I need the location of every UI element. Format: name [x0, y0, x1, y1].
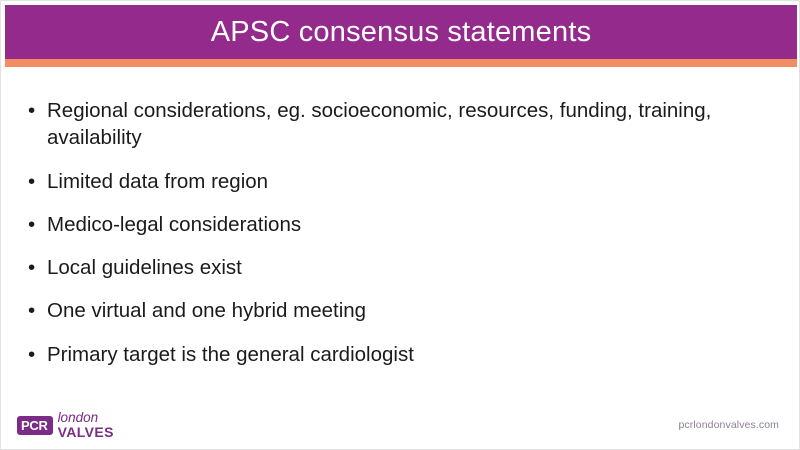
list-item: • One virtual and one hybrid meeting — [25, 297, 765, 324]
slide-header-band: APSC consensus statements — [5, 5, 797, 59]
list-item: • Primary target is the general cardiolo… — [25, 341, 765, 368]
bullet-marker-icon: • — [28, 341, 35, 368]
bullet-marker-icon: • — [28, 297, 35, 324]
list-item: • Local guidelines exist — [25, 254, 765, 281]
footer-website-url: pcrlondonvalves.com — [678, 419, 779, 431]
bullet-marker-icon: • — [28, 97, 35, 124]
slide: APSC consensus statements • Regional con… — [0, 0, 800, 450]
list-item: • Medico-legal considerations — [25, 211, 765, 238]
list-item-text: Regional considerations, eg. socioeconom… — [47, 99, 711, 149]
logo-wordmark: london VALVES — [58, 411, 114, 440]
list-item-text: Local guidelines exist — [47, 256, 242, 279]
bullet-marker-icon: • — [28, 254, 35, 281]
page-title: APSC consensus statements — [211, 18, 592, 47]
logo-valves-text: VALVES — [58, 425, 114, 440]
list-item: • Regional considerations, eg. socioecon… — [25, 97, 765, 152]
list-item-text: Primary target is the general cardiologi… — [47, 343, 414, 366]
list-item: • Limited data from region — [25, 168, 765, 195]
list-item-text: Medico-legal considerations — [47, 213, 301, 236]
header-accent-bar — [5, 59, 797, 67]
bullet-marker-icon: • — [28, 211, 35, 238]
list-item-text: Limited data from region — [47, 170, 268, 193]
list-item-text: One virtual and one hybrid meeting — [47, 299, 366, 322]
slide-content: • Regional considerations, eg. socioecon… — [25, 97, 765, 368]
bullet-list: • Regional considerations, eg. socioecon… — [25, 97, 765, 368]
pcr-logo-mark: PCR — [17, 416, 53, 435]
pcr-london-valves-logo: PCR london VALVES — [17, 411, 114, 440]
logo-london-text: london — [58, 411, 114, 425]
bullet-marker-icon: • — [28, 168, 35, 195]
